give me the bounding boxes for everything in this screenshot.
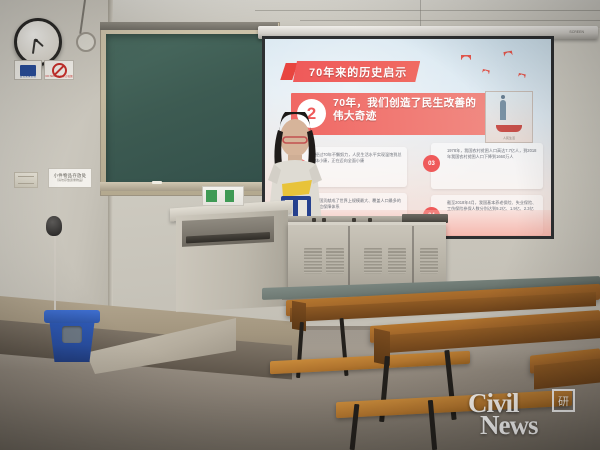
boat-shape	[496, 125, 522, 132]
ceiling-tile-line	[255, 10, 600, 11]
cabinet-vent	[326, 248, 344, 274]
ceiling-tile-line	[300, 20, 600, 21]
watermark-logo: Civil News 研	[464, 386, 590, 442]
cabinet-vent	[304, 248, 322, 274]
storage-notice-sign: 小件物品存放处 （请勿存放贵重物品）	[48, 168, 92, 188]
stool-handle-hole	[62, 326, 82, 343]
cabinet-vent	[420, 248, 438, 274]
box-stripe	[206, 190, 217, 202]
person-figure-icon	[500, 100, 506, 120]
bullet-text: 1978年，我国农村贫困人口高达7.7亿人，到2018年我国农村贫困人口下降到1…	[447, 148, 538, 160]
cabinet-vent	[388, 248, 406, 274]
chalk-piece	[152, 181, 162, 184]
camera-notice-sign: 监控录像区域	[14, 60, 42, 80]
microphone-icon	[46, 216, 62, 236]
storage-notice-line2: （请勿存放贵重物品）	[55, 179, 85, 182]
slide-section-heading: 70年，我们创造了民生改善的伟大奇迹	[333, 97, 483, 123]
camera-sign-caption: 监控录像区域	[15, 74, 41, 78]
no-smoking-caption: NO SMOKING 禁止吸烟	[45, 74, 73, 78]
classroom-photo: 监控录像区域 NO SMOKING 禁止吸烟 小件物品存放处 （请勿存放贵重物品…	[0, 0, 600, 450]
slide-photo-inset: 人民生活	[485, 91, 533, 143]
blackboard	[106, 34, 272, 186]
plastic-stool-seat[interactable]	[44, 310, 100, 323]
screen-brand-label: SCREEN	[569, 30, 584, 34]
bullet-marker: 03	[423, 155, 440, 172]
blackboard-top-rail	[100, 22, 278, 30]
slide-title: 70年来的历史启示	[293, 61, 420, 82]
cabinet-vent	[364, 248, 382, 274]
watermark-badge-icon: 研	[552, 389, 575, 412]
wall-clock	[14, 18, 62, 66]
photo-caption: 人民生活	[486, 136, 532, 140]
cabinet-door-divider	[348, 226, 350, 292]
wall-plaque	[14, 172, 38, 188]
slide-bullet: 03 1978年，我国农村贫困人口高达7.7亿人，到2018年我国农村贫困人口下…	[431, 143, 543, 189]
box-stripe	[225, 190, 234, 202]
clock-center-pin	[35, 39, 38, 42]
ceiling-fixture-ring	[76, 32, 96, 52]
no-smoking-sign: NO SMOKING 禁止吸烟	[44, 60, 74, 80]
tissue-box	[202, 186, 244, 206]
dove-icon	[461, 55, 471, 60]
watermark-line2: News	[480, 410, 538, 441]
